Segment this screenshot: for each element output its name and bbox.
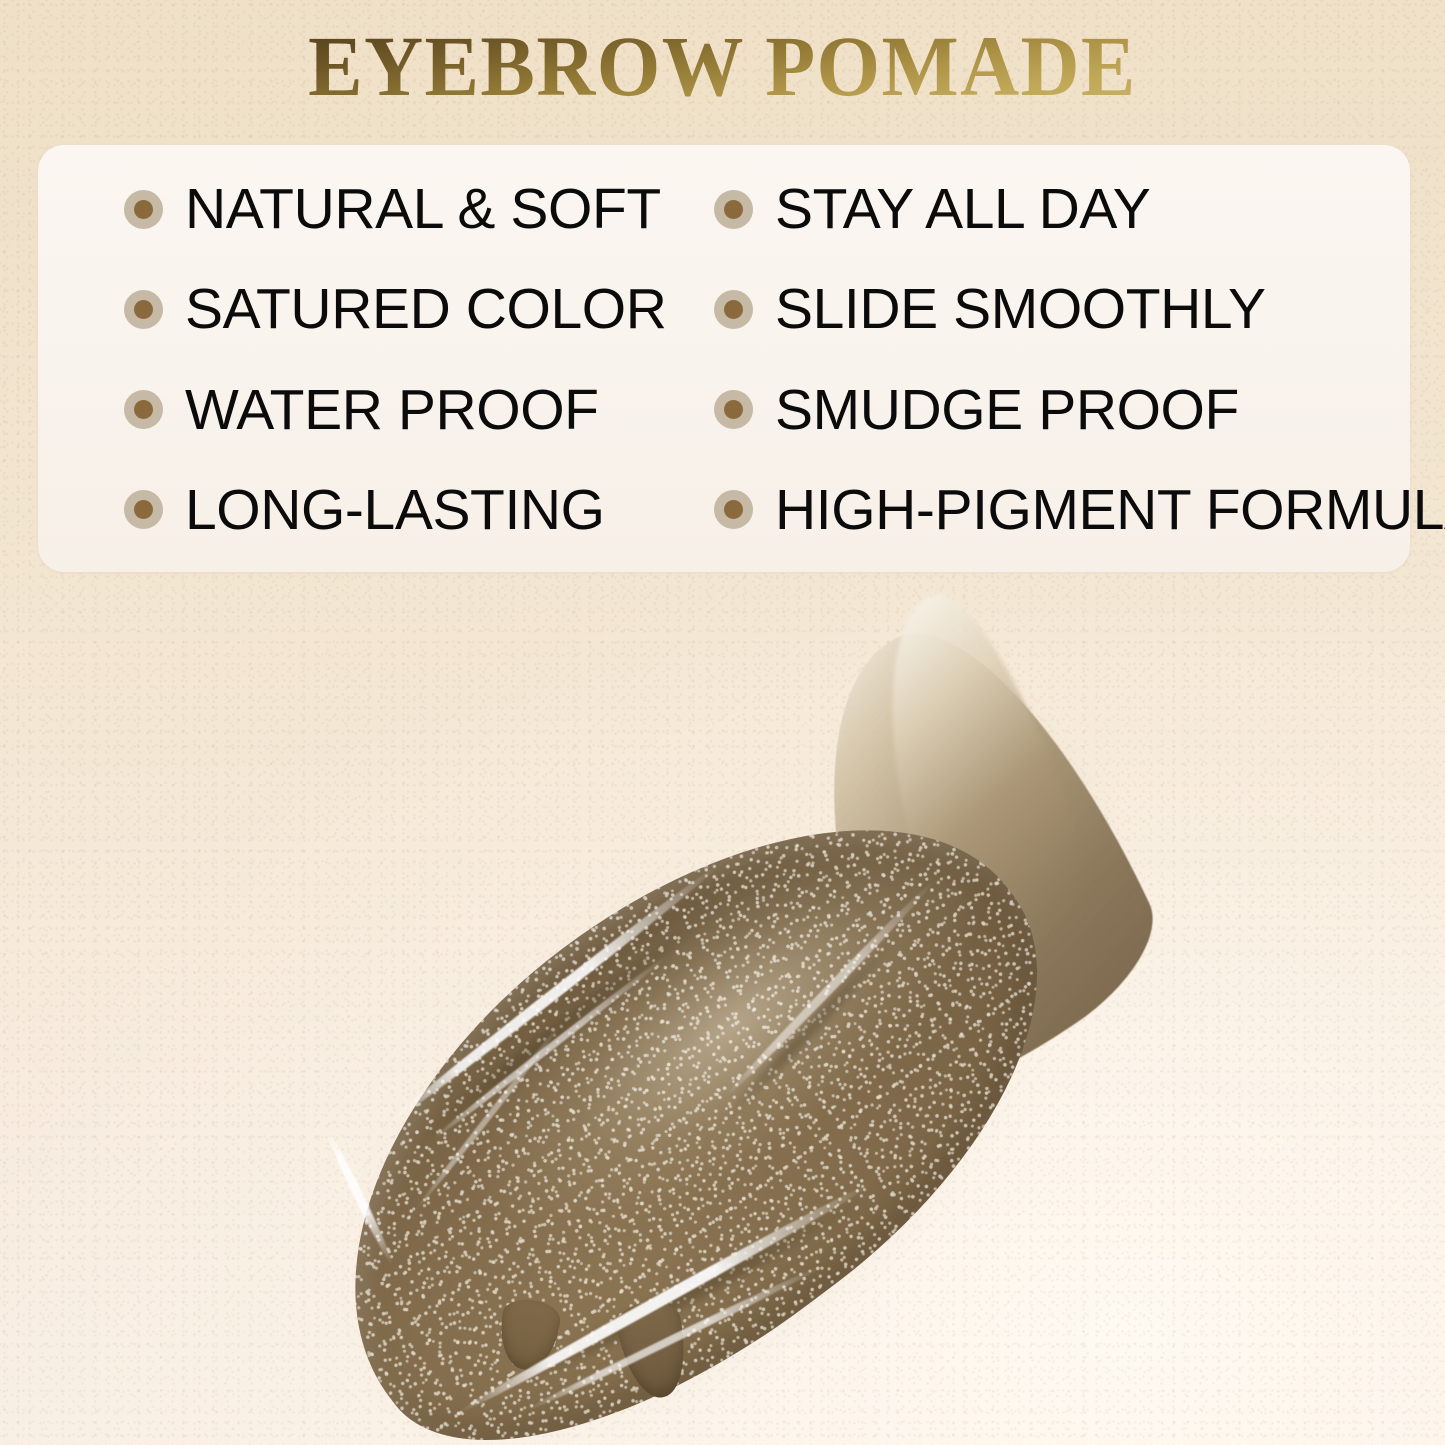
- feature-grid: NATURAL & SOFT STAY ALL DAY SATURED COLO…: [38, 145, 1410, 572]
- bullet-dot-icon: [124, 390, 163, 429]
- bullet-dot-icon: [714, 490, 753, 529]
- bullet-dot-icon: [124, 190, 163, 229]
- bullet-dot-icon: [124, 490, 163, 529]
- product-banner: EYEBROW POMADE NATURAL & SOFT STAY ALL D…: [0, 0, 1445, 1445]
- feature-label: NATURAL & SOFT: [185, 179, 661, 239]
- bullet-dot-icon: [714, 390, 753, 429]
- feature-list-card: NATURAL & SOFT STAY ALL DAY SATURED COLO…: [38, 145, 1410, 572]
- page-title: EYEBROW POMADE: [36, 18, 1409, 114]
- feature-label: LONG-LASTING: [185, 480, 605, 540]
- feature-label: SMUDGE PROOF: [775, 380, 1239, 440]
- feature-label: WATER PROOF: [185, 380, 599, 440]
- feature-label: STAY ALL DAY: [775, 179, 1150, 239]
- feature-item-long-lasting: LONG-LASTING: [38, 460, 704, 560]
- feature-item-satured-color: SATURED COLOR: [38, 259, 704, 359]
- pomade-swatch-smear: [250, 592, 1310, 1422]
- feature-label: SLIDE SMOOTHLY: [775, 279, 1266, 339]
- feature-label: HIGH-PIGMENT FORMULA: [775, 480, 1445, 540]
- feature-item-smudge-proof: SMUDGE PROOF: [704, 360, 1410, 460]
- feature-item-high-pigment-formula: HIGH-PIGMENT FORMULA: [704, 460, 1410, 560]
- product-swatch-area: [0, 572, 1445, 1445]
- bullet-dot-icon: [714, 190, 753, 229]
- feature-item-stay-all-day: STAY ALL DAY: [704, 159, 1410, 259]
- feature-item-slide-smoothly: SLIDE SMOOTHLY: [704, 259, 1410, 359]
- feature-item-natural-soft: NATURAL & SOFT: [38, 159, 704, 259]
- bullet-dot-icon: [124, 290, 163, 329]
- feature-item-water-proof: WATER PROOF: [38, 360, 704, 460]
- bullet-dot-icon: [714, 290, 753, 329]
- feature-label: SATURED COLOR: [185, 279, 666, 339]
